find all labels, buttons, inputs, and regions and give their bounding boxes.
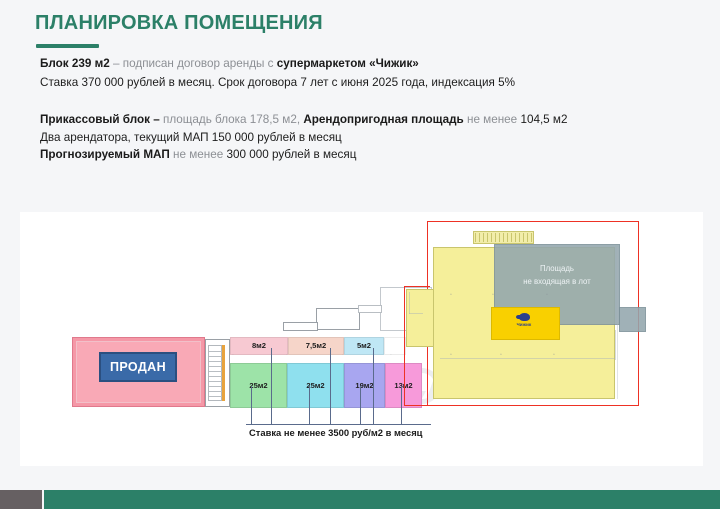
- room-lower-2-label: 25м2: [287, 381, 344, 390]
- column-marker: ▫: [546, 292, 548, 298]
- room-upper-3-label: 5м2: [344, 341, 384, 350]
- column-marker: ▫: [450, 352, 452, 358]
- bird-icon: [519, 313, 530, 321]
- column-marker: ▫: [450, 292, 452, 298]
- stair-handrail: [222, 345, 225, 401]
- caption-rule: [246, 424, 431, 425]
- column-marker: ▫: [500, 352, 502, 358]
- floorplan-drawing: ПРОДАН 8м2 7,5м2 5м2 ▫ ▫ ▫ ▫ 25м2 25м2: [0, 0, 720, 509]
- room-lower-3-label: 19м2: [344, 381, 385, 390]
- partition-line: [615, 330, 616, 360]
- room-lower-1-label: 25м2: [230, 381, 287, 390]
- leader-line: [309, 386, 310, 424]
- partition-line: [440, 358, 615, 359]
- room-upper-4: [384, 337, 406, 355]
- column-marker: ▫: [492, 292, 494, 298]
- excluded-area-label-line2: не входящая в лот: [494, 275, 620, 288]
- footer-accent-bar: [44, 490, 720, 509]
- leader-line: [271, 348, 272, 424]
- chizhik-logo-icon: Чижик: [513, 313, 535, 335]
- excluded-area-label: Площадь не входящая в лот: [494, 262, 620, 288]
- partition-line: [409, 292, 410, 314]
- slide-root: ПЛАНИРОВКА ПОМЕЩЕНИЯ Блок 239 м2 – подпи…: [0, 0, 720, 509]
- lot-area-entry-strip: [473, 231, 534, 244]
- leader-line: [330, 348, 331, 424]
- leader-line: [360, 386, 361, 424]
- hatch-pattern-icon: [475, 233, 532, 242]
- floorplan-caption: Ставка не менее 3500 руб/м2 в месяц: [249, 427, 422, 438]
- stair-icon: [208, 345, 222, 401]
- column-marker: ▫: [553, 352, 555, 358]
- leader-line: [251, 386, 252, 424]
- partition-line: [409, 313, 423, 314]
- status-badge-sold: ПРОДАН: [99, 352, 177, 382]
- leader-line: [401, 386, 402, 424]
- footer-left-block: [0, 490, 42, 509]
- anchor-tenant-label: Чижик: [517, 322, 532, 327]
- duct-shape-c: [358, 305, 382, 313]
- duct-shape-a: [316, 308, 360, 330]
- leader-line: [373, 348, 374, 424]
- room-upper-1-label: 8м2: [230, 341, 288, 350]
- duct-shape-b: [283, 322, 318, 331]
- excluded-area-tab: [619, 307, 646, 332]
- excluded-area-label-line1: Площадь: [494, 262, 620, 275]
- room-upper-2-label: 7,5м2: [288, 341, 344, 350]
- lot-area-annex: [406, 289, 436, 347]
- partition-line: [617, 247, 618, 399]
